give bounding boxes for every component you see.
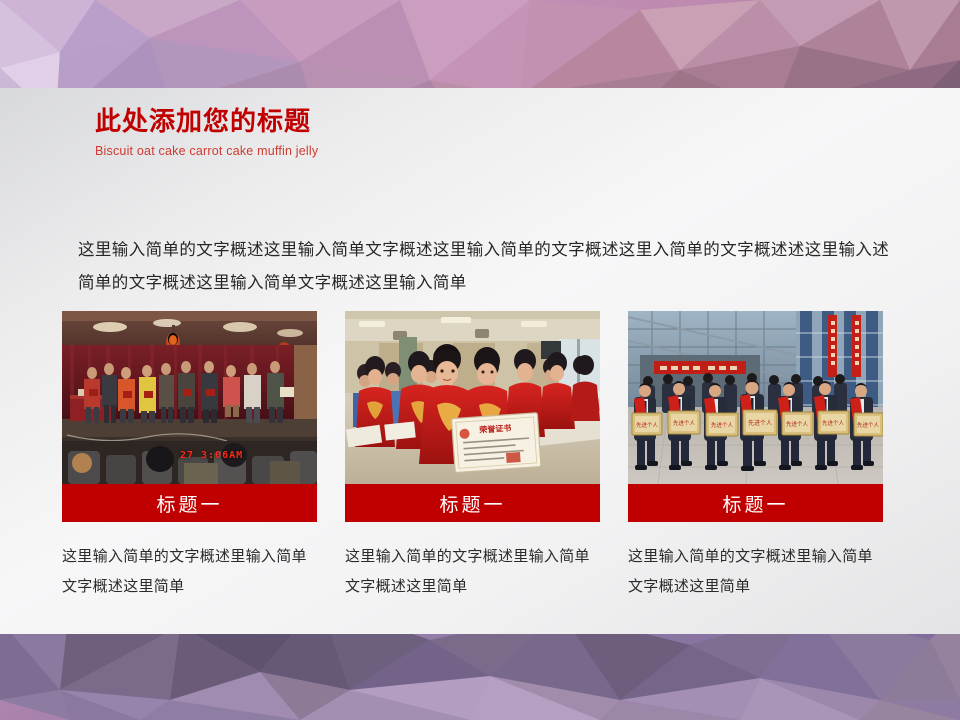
heading-block: 此处添加您的标题 Biscuit oat cake carrot cake mu… [95, 106, 318, 158]
card-row: 27 3:06AM 标题一 这里输入简单的文字概述里输入简单文字概述这里简单 [62, 311, 882, 616]
slide-canvas: 此处添加您的标题 Biscuit oat cake carrot cake mu… [0, 0, 960, 720]
card-photo-award-ceremony: 27 3:06AM [62, 311, 317, 484]
svg-text:先进个人: 先进个人 [786, 420, 809, 428]
card-photo-qipao-hostesses: 荣誉证书 [345, 311, 600, 484]
body-paragraph: 这里输入简单的文字概述这里输入简单文字概述这里输入简单的文字概述这里入简单的文字… [78, 233, 898, 301]
card-caption-bar: 标题一 [62, 484, 317, 522]
card-caption-bar: 标题一 [628, 484, 883, 522]
svg-text:先进个人: 先进个人 [673, 419, 696, 427]
card-description: 这里输入简单的文字概述里输入简单文字概述这里简单 [628, 541, 878, 601]
svg-text:先进个人: 先进个人 [857, 421, 880, 429]
card-description: 这里输入简单的文字概述里输入简单文字概述这里简单 [62, 541, 312, 601]
card-caption-bar: 标题一 [345, 484, 600, 522]
content-panel: 此处添加您的标题 Biscuit oat cake carrot cake mu… [0, 88, 960, 634]
svg-text:先进个人: 先进个人 [711, 421, 734, 429]
svg-text:先进个人: 先进个人 [636, 421, 659, 429]
card-photo-award-march: 先进个人 先进个人 先进个人 先进个人 [628, 311, 883, 484]
page-subtitle: Biscuit oat cake carrot cake muffin jell… [95, 144, 318, 158]
photo-card[interactable]: 荣誉证书 [345, 311, 600, 616]
svg-text:先进个人: 先进个人 [822, 419, 845, 427]
photo-timestamp-overlay: 27 3:06AM [180, 450, 243, 461]
page-title: 此处添加您的标题 [95, 106, 318, 137]
card-description: 这里输入简单的文字概述里输入简单文字概述这里简单 [345, 541, 595, 601]
photo-card[interactable]: 先进个人 先进个人 先进个人 先进个人 [628, 311, 883, 616]
photo-card[interactable]: 27 3:06AM 标题一 这里输入简单的文字概述里输入简单文字概述这里简单 [62, 311, 317, 616]
svg-text:先进个人: 先进个人 [748, 419, 772, 427]
